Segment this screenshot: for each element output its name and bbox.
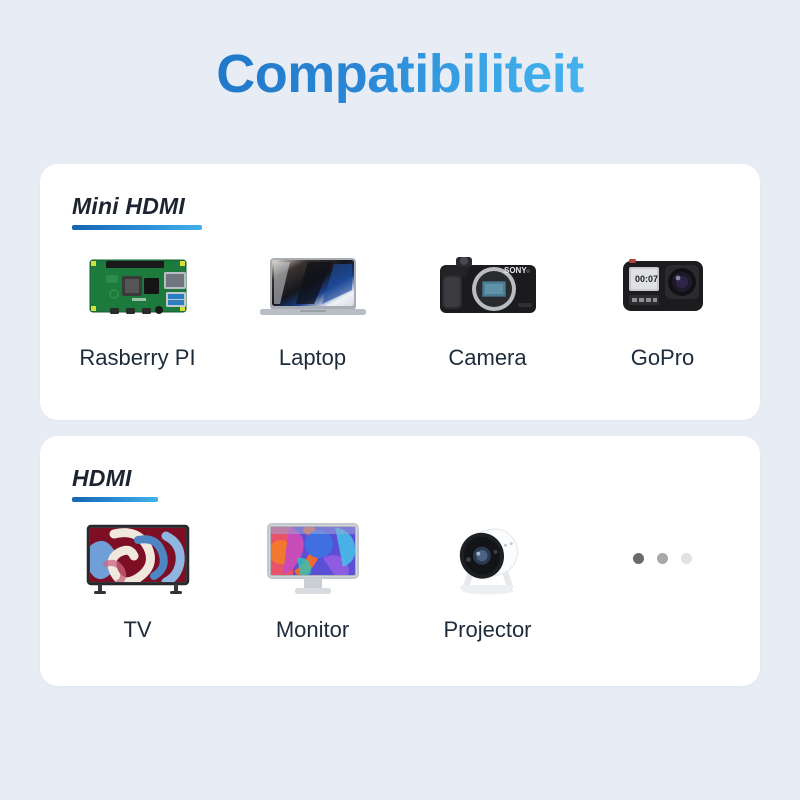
carousel-dot-active[interactable] <box>633 553 644 564</box>
device-list-hdmi: TV <box>40 502 760 645</box>
compatibility-page: Compatibiliteit Mini HDMI <box>0 0 800 800</box>
section-heading-hdmi: HDMI <box>72 466 132 491</box>
device-label: GoPro <box>631 344 695 373</box>
device-label: Projector <box>443 616 531 645</box>
section-card-hdmi: HDMI <box>40 436 760 686</box>
section-header-mini-hdmi: Mini HDMI <box>40 164 760 230</box>
device-item[interactable]: SONY Camera <box>400 244 575 373</box>
device-item[interactable]: 00:07 GoPro <box>575 244 750 373</box>
page-title: Compatibiliteit <box>216 44 584 104</box>
carousel-dots[interactable] <box>597 516 729 600</box>
svg-text:SONY: SONY <box>504 266 527 275</box>
action-camera-icon: 00:07 <box>597 244 729 328</box>
page-title-container: Compatibiliteit <box>40 0 760 104</box>
projector-icon <box>422 516 554 600</box>
device-item[interactable]: Laptop <box>225 244 400 373</box>
device-item[interactable]: Monitor <box>225 516 400 645</box>
device-label: Camera <box>448 344 526 373</box>
section-header-hdmi: HDMI <box>40 436 760 502</box>
desktop-monitor-icon <box>247 516 379 600</box>
device-item[interactable]: Rasberry PI <box>50 244 225 373</box>
device-item[interactable]: TV <box>50 516 225 645</box>
device-label: TV <box>123 616 151 645</box>
section-heading-mini-hdmi: Mini HDMI <box>72 194 185 219</box>
section-card-mini-hdmi: Mini HDMI <box>40 164 760 420</box>
carousel-dot[interactable] <box>681 553 692 564</box>
device-label: Monitor <box>276 616 349 645</box>
device-label: Laptop <box>279 344 346 373</box>
laptop-icon <box>247 244 379 328</box>
television-icon <box>72 516 204 600</box>
device-label: Rasberry PI <box>79 344 195 373</box>
carousel-pagination[interactable] <box>575 516 750 645</box>
device-list-mini-hdmi: Rasberry PI <box>40 230 760 373</box>
raspberry-pi-board-icon <box>72 244 204 328</box>
carousel-dot[interactable] <box>657 553 668 564</box>
mirrorless-camera-icon: SONY <box>422 244 554 328</box>
svg-text:00:07: 00:07 <box>635 274 658 284</box>
device-item[interactable]: Projector <box>400 516 575 645</box>
